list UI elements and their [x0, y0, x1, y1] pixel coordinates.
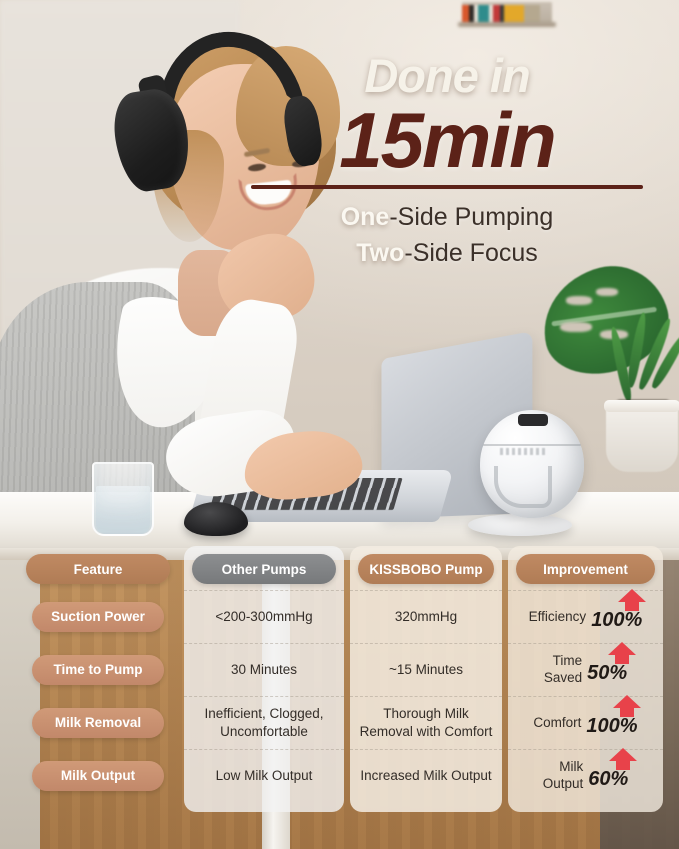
column-other-pumps: Other Pumps <200-300mmHg 30 Minutes Inef…: [184, 546, 344, 812]
kissbobo-time-to-pump: ~15 Minutes: [389, 661, 463, 679]
column-improvement: Improvement Efficiency 100%: [508, 546, 663, 812]
pump-top-button: [518, 414, 548, 426]
kissbobo-suction-power: 320mmHg: [395, 608, 457, 626]
table-row: MilkOutput 60%: [508, 749, 663, 802]
table-row: Comfort 100%: [508, 696, 663, 749]
leaf-slit: [560, 322, 592, 332]
leaf-slit: [596, 288, 618, 296]
leaf-slit: [566, 296, 592, 305]
kissbobo-rows: 320mmHg ~15 Minutes Thorough MilkRemoval…: [350, 590, 502, 802]
table-row: Milk Removal: [18, 696, 178, 749]
feature-label-milk-removal: Milk Removal: [32, 708, 164, 738]
table-row: Time to Pump: [18, 643, 178, 696]
improvement-value: 50%: [587, 662, 627, 684]
pump-brand-logo: [500, 448, 546, 455]
bookshelf: [462, 2, 552, 24]
improvement-value-wrap: 100%: [591, 602, 642, 632]
table-row: <200-300mmHg: [184, 590, 344, 643]
table-row: Increased Milk Output: [350, 749, 502, 802]
improvement-label: Comfort: [533, 715, 581, 732]
feature-label-milk-output: Milk Output: [32, 761, 164, 791]
headline-done-in: Done in: [237, 52, 657, 99]
improvement-value: 100%: [591, 609, 642, 631]
table-row: TimeSaved 50%: [508, 643, 663, 696]
sub-one-rest: -Side Pumping: [389, 203, 553, 231]
plant-pot-rim: [604, 400, 679, 412]
table-row: 320mmHg: [350, 590, 502, 643]
header-kissbobo-pump: KISSBOBO Pump: [358, 554, 494, 584]
table-row: 30 Minutes: [184, 643, 344, 696]
product-marketing-image: Done in 15min One-Side Pumping Two-Side …: [0, 0, 679, 849]
improvement-milk-output: MilkOutput 60%: [514, 759, 657, 793]
improvement-value-wrap: 50%: [587, 655, 627, 685]
header-feature: Feature: [26, 554, 170, 584]
sub-one-bold: One: [341, 203, 390, 231]
feature-rows: Suction Power Time to Pump Milk Removal …: [18, 590, 178, 802]
other-rows: <200-300mmHg 30 Minutes Inefficient, Clo…: [184, 590, 344, 802]
pump-charging-stand: [468, 514, 572, 536]
pump-seam: [483, 444, 581, 446]
improvement-value: 100%: [586, 715, 637, 737]
improvement-value: 60%: [588, 768, 628, 790]
feature-label-suction-power: Suction Power: [32, 602, 164, 632]
header-other-pumps: Other Pumps: [192, 554, 336, 584]
table-row: Efficiency 100%: [508, 590, 663, 643]
improvement-label: Efficiency: [529, 609, 587, 626]
table-row: ~15 Minutes: [350, 643, 502, 696]
headline-underline: [251, 185, 643, 189]
table-row: Milk Output: [18, 749, 178, 802]
table-row: Inefficient, Clogged,Uncomfortable: [184, 696, 344, 749]
other-suction-power: <200-300mmHg: [215, 608, 312, 626]
headline-15min: 15min: [237, 101, 657, 179]
table-row: Suction Power: [18, 590, 178, 643]
improvement-label: TimeSaved: [544, 653, 582, 687]
shelf-board: [458, 22, 556, 27]
improvement-value-wrap: 60%: [588, 761, 628, 791]
comparison-table: Feature Suction Power Time to Pump Milk …: [18, 546, 663, 812]
improvement-label: MilkOutput: [543, 759, 584, 793]
column-kissbobo-pump: KISSBOBO Pump 320mmHg ~15 Minutes Thorou…: [350, 546, 502, 812]
column-feature: Feature Suction Power Time to Pump Milk …: [18, 546, 178, 812]
other-milk-removal: Inefficient, Clogged,Uncomfortable: [204, 705, 323, 740]
other-time-to-pump: 30 Minutes: [231, 661, 297, 679]
plant-pot: [606, 402, 678, 472]
improvement-efficiency: Efficiency 100%: [514, 602, 657, 632]
improvement-value-wrap: 100%: [586, 708, 637, 738]
sub-two-bold: Two: [356, 239, 404, 267]
headline-subtext: One-Side Pumping Two-Side Focus: [237, 200, 657, 271]
improvement-rows: Efficiency 100% TimeSaved: [508, 590, 663, 802]
improvement-comfort: Comfort 100%: [514, 708, 657, 738]
kissbobo-milk-output: Increased Milk Output: [360, 767, 491, 785]
header-improvement: Improvement: [516, 554, 655, 584]
headline-block: Done in 15min One-Side Pumping Two-Side …: [237, 52, 657, 271]
other-milk-output: Low Milk Output: [216, 767, 313, 785]
table-row: Low Milk Output: [184, 749, 344, 802]
improvement-time-saved: TimeSaved 50%: [514, 653, 657, 687]
sub-two-rest: -Side Focus: [404, 239, 537, 267]
table-row: Thorough MilkRemoval with Comfort: [350, 696, 502, 749]
feature-label-time-to-pump: Time to Pump: [32, 655, 164, 685]
water-glass: [92, 462, 154, 536]
kissbobo-milk-removal: Thorough MilkRemoval with Comfort: [360, 705, 493, 740]
computer-mouse: [184, 502, 248, 536]
